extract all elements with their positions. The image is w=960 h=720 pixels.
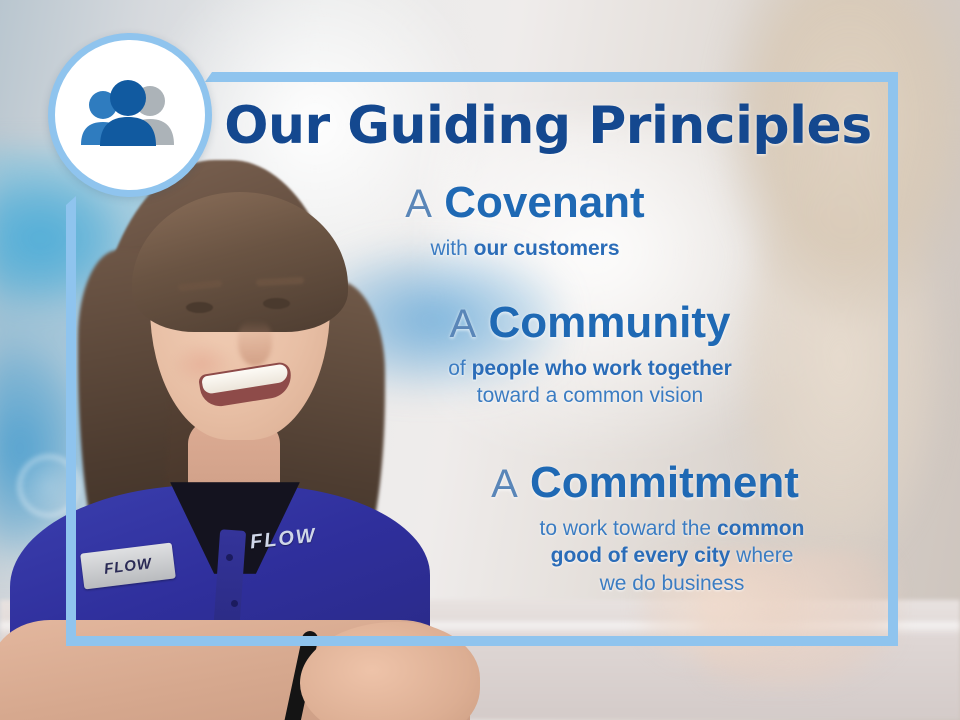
principle-covenant: A Covenant with our customers: [330, 180, 720, 262]
principle-covenant-subtext: with our customers: [330, 235, 720, 263]
principle-commitment-article: A: [491, 462, 518, 506]
principle-community-sub-line1-bold: people who work together: [472, 357, 732, 380]
page-title: Our Guiding Principles: [218, 96, 878, 156]
principle-community-heading: A Community: [380, 300, 800, 347]
principle-commitment: A Commitment to work toward the common g…: [420, 460, 870, 598]
principle-community: A Community of people who work together …: [380, 300, 800, 410]
banner-text-content: Our Guiding Principles A Covenant with o…: [0, 0, 960, 720]
principle-community-sub-line1-pre: of: [448, 357, 471, 380]
principle-community-subtext: of people who work together toward a com…: [380, 355, 800, 410]
principle-covenant-heading: A Covenant: [330, 180, 720, 227]
principle-covenant-article: A: [405, 182, 432, 226]
principle-commitment-sub-line2-post: where: [730, 544, 793, 567]
principle-covenant-sub-plain: with: [430, 237, 473, 260]
principle-community-article: A: [450, 302, 477, 346]
principle-covenant-word: Covenant: [444, 178, 644, 227]
principle-community-word: Community: [488, 298, 730, 347]
principle-community-sub-line2: toward a common vision: [477, 384, 703, 407]
principle-commitment-sub-line1-pre: to work toward the: [540, 517, 717, 540]
principle-commitment-sub-line2-bold: good of every city: [551, 544, 731, 567]
principle-commitment-subtext: to work toward the common good of every …: [482, 515, 862, 598]
principle-commitment-word: Commitment: [530, 458, 799, 507]
principle-covenant-sub-bold: our customers: [474, 237, 620, 260]
principle-commitment-heading: A Commitment: [420, 460, 870, 507]
banner-stage: FLOW FLOW Our Guiding Princi: [0, 0, 960, 720]
principle-commitment-sub-line3: we do business: [600, 572, 745, 595]
principle-commitment-sub-line1-bold: common: [717, 517, 805, 540]
